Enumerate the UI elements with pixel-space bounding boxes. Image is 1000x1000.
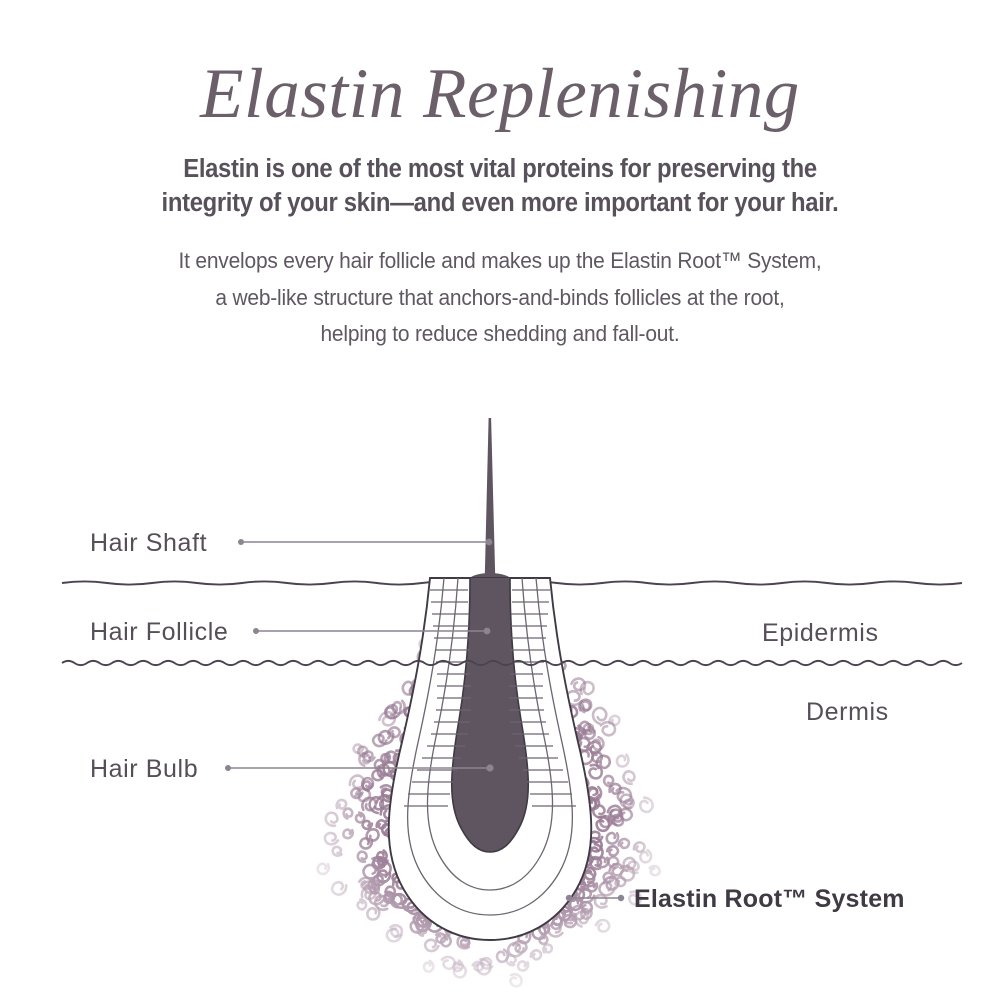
subtitle: Elastin is one of the most vital protein…: [131, 130, 870, 221]
elastin-fiber: [332, 882, 346, 894]
elastin-fiber: [650, 866, 660, 875]
follicle-diagram: Hair Shaft Hair Follicle Hair Bulb Epide…: [0, 390, 1000, 1000]
elastin-fiber: [343, 830, 352, 839]
body-line: a web-like structure that anchors-and-bi…: [114, 280, 886, 316]
elastin-fiber: [326, 813, 338, 826]
leader-dot-elastin-root-target: [566, 895, 572, 901]
elastin-fiber: [358, 852, 367, 862]
elastin-fiber: [624, 771, 635, 783]
label-hair-shaft: Hair Shaft: [90, 529, 207, 557]
elastin-fiber: [616, 877, 626, 886]
leader-dot-hair-shaft-target: [486, 539, 493, 546]
body-line: It envelops every hair follicle and make…: [114, 243, 886, 279]
elastin-fiber: [593, 708, 606, 724]
label-elastin-root-system: Elastin Root™ System: [634, 885, 905, 913]
elastin-fiber: [337, 800, 346, 809]
leader-dot-hair-bulb-label: [225, 765, 231, 771]
elastin-fiber: [590, 765, 602, 778]
elastin-fiber: [607, 833, 618, 844]
elastin-fiber: [640, 798, 652, 812]
leader-dot-hair-follicle-target: [484, 628, 491, 635]
elastin-fiber: [595, 895, 606, 907]
elastin-fiber: [367, 829, 379, 841]
elastin-fiber: [325, 833, 338, 844]
elastin-fiber: [367, 908, 379, 919]
body-copy: It envelops every hair follicle and make…: [114, 221, 886, 352]
elastin-fiber: [598, 858, 608, 868]
elastin-fiber: [511, 974, 522, 986]
elastin-fiber: [617, 755, 628, 767]
hair-shaft-above-skin: [485, 418, 495, 576]
elastin-fiber: [596, 920, 609, 931]
elastin-fiber: [619, 839, 629, 848]
leader-dot-elastin-root-label: [618, 895, 624, 901]
elastin-fiber: [543, 945, 551, 953]
elastin-fiber: [634, 842, 644, 851]
subtitle-line: integrity of your skin—and even more imp…: [131, 187, 870, 221]
label-hair-bulb: Hair Bulb: [90, 755, 198, 783]
elastin-fiber: [610, 716, 620, 725]
elastin-fiber: [344, 809, 353, 819]
leader-dot-hair-shaft-label: [238, 539, 244, 545]
elastin-fiber: [531, 950, 541, 959]
label-epidermis: Epidermis: [762, 619, 879, 647]
elastin-fiber: [539, 935, 547, 944]
page-title: Elastin Replenishing: [0, 0, 1000, 130]
elastin-fiber: [640, 850, 651, 862]
label-dermis: Dermis: [806, 698, 889, 726]
elastin-fiber: [318, 864, 329, 874]
elastin-fiber: [425, 940, 438, 951]
elastin-fiber: [518, 961, 528, 970]
leader-dot-hair-bulb-target: [486, 764, 493, 771]
leader-dot-hair-follicle-label: [253, 628, 259, 634]
elastin-fiber: [333, 847, 342, 856]
elastin-fiber: [356, 813, 364, 823]
subtitle-line: Elastin is one of the most vital protein…: [131, 153, 870, 187]
label-hair-follicle: Hair Follicle: [90, 618, 228, 646]
elastin-fiber: [507, 955, 516, 965]
elastin-fiber: [607, 846, 618, 855]
elastin-fiber: [424, 961, 433, 972]
elastin-fiber: [358, 900, 366, 910]
body-line: helping to reduce shedding and fall-out.: [114, 316, 886, 352]
elastin-fiber: [363, 821, 372, 829]
header-block: Elastin Replenishing Elastin is one of t…: [0, 0, 1000, 353]
elastin-fiber: [597, 817, 609, 831]
